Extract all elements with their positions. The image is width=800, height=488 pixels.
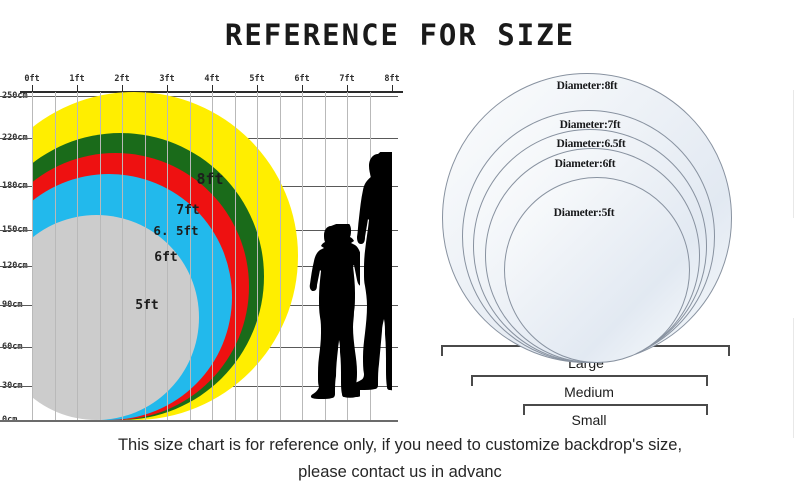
x-axis-label-3ft: 3ft (159, 74, 174, 84)
vgridline-7 (190, 92, 191, 420)
gridline-0cm (0, 420, 398, 422)
ring-label-diameter5ft: Diameter:5ft (554, 207, 615, 219)
x-axis-label-8ft: 8ft (384, 74, 399, 84)
x-tick-3ft (167, 85, 168, 92)
band-label-8ft: 8ft (196, 170, 223, 188)
x-axis-label-0ft: 0ft (24, 74, 39, 84)
plot-area (32, 92, 392, 420)
x-axis-label-7ft: 7ft (339, 74, 354, 84)
edge-artifact-top (793, 90, 794, 218)
x-axis-label-4ft: 4ft (204, 74, 219, 84)
footer-line-1: This size chart is for reference only, i… (40, 432, 760, 459)
band-label-7ft: 7ft (176, 203, 199, 218)
vgridline-10 (257, 92, 258, 420)
band-label-6ft: 6ft (154, 250, 177, 265)
x-tick-2ft (122, 85, 123, 92)
ring-5ft (504, 177, 690, 363)
bracket-small (523, 404, 708, 415)
x-tick-8ft (392, 85, 393, 92)
bracket-label-medium: Medium (564, 384, 614, 400)
x-axis-label-1ft: 1ft (69, 74, 84, 84)
x-tick-6ft (302, 85, 303, 92)
x-tick-5ft (257, 85, 258, 92)
footer-line-2: please contact us in advanc (40, 459, 760, 486)
band-label-5ft: 5ft (135, 298, 158, 313)
bracket-label-small: Small (571, 412, 606, 428)
vgridline-9 (235, 92, 236, 420)
ring-label-diameter6ft: Diameter:6ft (555, 158, 616, 170)
x-axis-label-2ft: 2ft (114, 74, 129, 84)
footer-note: This size chart is for reference only, i… (40, 432, 760, 486)
child-silhouette (304, 224, 360, 420)
x-tick-7ft (347, 85, 348, 92)
vgridline-4 (122, 92, 123, 420)
diameter-reference-diagram: Diameter:8ftDiameter:7ftDiameter:6.5ftDi… (420, 55, 800, 435)
vgridline-3 (100, 92, 101, 420)
vgridline-8 (212, 92, 213, 420)
ring-label-diameter7ft: Diameter:7ft (560, 119, 621, 131)
vgridline-12 (302, 92, 303, 420)
x-tick-0ft (32, 85, 33, 92)
x-axis-label-6ft: 6ft (294, 74, 309, 84)
ring-label-diameter65ft: Diameter:6.5ft (556, 138, 625, 150)
vgridline-1 (55, 92, 56, 420)
x-tick-1ft (77, 85, 78, 92)
size-chart-page: REFERENCE FOR SIZE 0ft1ft2ft3ft4ft5ft6ft… (0, 0, 800, 488)
height-reference-chart: 0ft1ft2ft3ft4ft5ft6ft7ft8ft 250cm220cm18… (0, 70, 420, 430)
x-axis-label-5ft: 5ft (249, 74, 264, 84)
vgridline-2 (77, 92, 78, 420)
band-label-65ft: 6. 5ft (153, 223, 198, 238)
vgridline-0 (32, 92, 33, 420)
vgridline-11 (280, 92, 281, 420)
ring-label-diameter8ft: Diameter:8ft (557, 80, 618, 92)
vgridline-5 (145, 92, 146, 420)
x-tick-4ft (212, 85, 213, 92)
page-title: REFERENCE FOR SIZE (0, 18, 800, 52)
edge-artifact-bottom (793, 318, 794, 438)
